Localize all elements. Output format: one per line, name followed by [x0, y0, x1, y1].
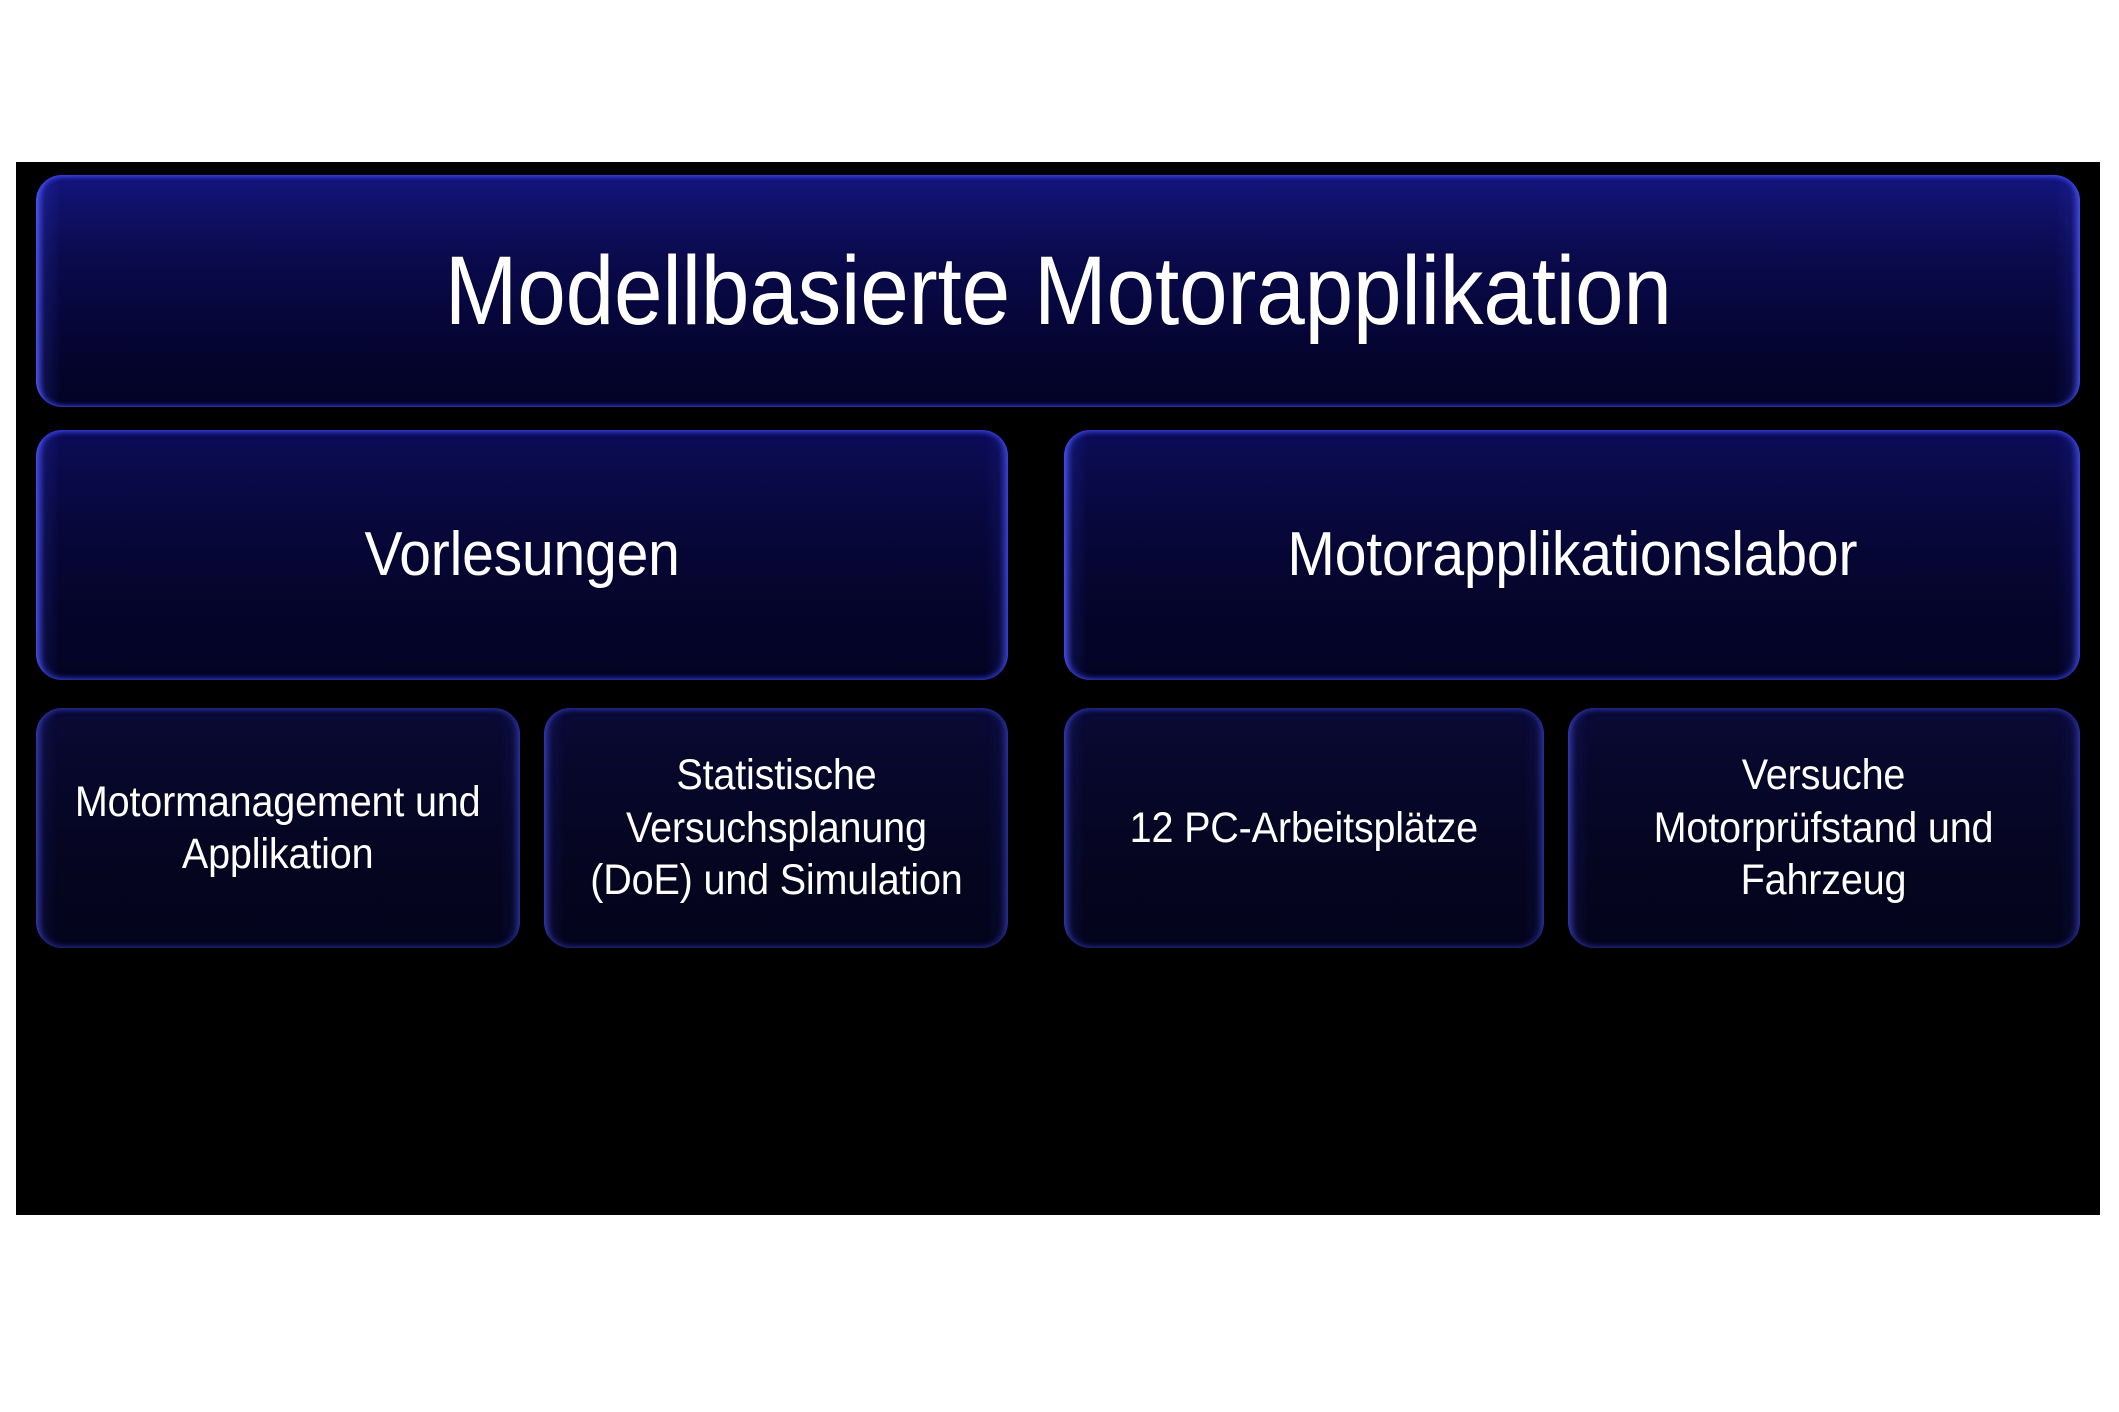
card-vorlesungen[interactable]: Vorlesungen	[36, 430, 1008, 680]
card-motormanagement-label: Motormanagement und Applikation	[73, 776, 483, 881]
card-motorapplikationslabor-label: Motorapplikationslabor	[1142, 519, 2002, 591]
card-doe[interactable]: Statistische Versuchsplanung (DoE) und S…	[544, 708, 1008, 948]
title-card[interactable]: Modellbasierte Motorapplikation	[36, 175, 2080, 407]
card-pc-arbeitsplaetze[interactable]: 12 PC-Arbeitsplätze	[1064, 708, 1544, 948]
card-doe-label: Statistische Versuchsplanung (DoE) und S…	[580, 749, 973, 906]
slide-canvas: Modellbasierte Motorapplikation Vorlesun…	[0, 0, 2119, 1412]
card-pc-arbeitsplaetze-label: 12 PC-Arbeitsplätze	[1101, 802, 1507, 854]
card-motormanagement[interactable]: Motormanagement und Applikation	[36, 708, 520, 948]
card-motorpruefstand-label: Versuche Motorprüfstand und Fahrzeug	[1607, 749, 2040, 906]
card-motorapplikationslabor[interactable]: Motorapplikationslabor	[1064, 430, 2080, 680]
title-label: Modellbasierte Motorapplikation	[212, 235, 1904, 348]
diagram-frame: Modellbasierte Motorapplikation Vorlesun…	[16, 162, 2100, 1215]
card-motorpruefstand[interactable]: Versuche Motorprüfstand und Fahrzeug	[1568, 708, 2080, 948]
card-vorlesungen-label: Vorlesungen	[111, 519, 934, 591]
